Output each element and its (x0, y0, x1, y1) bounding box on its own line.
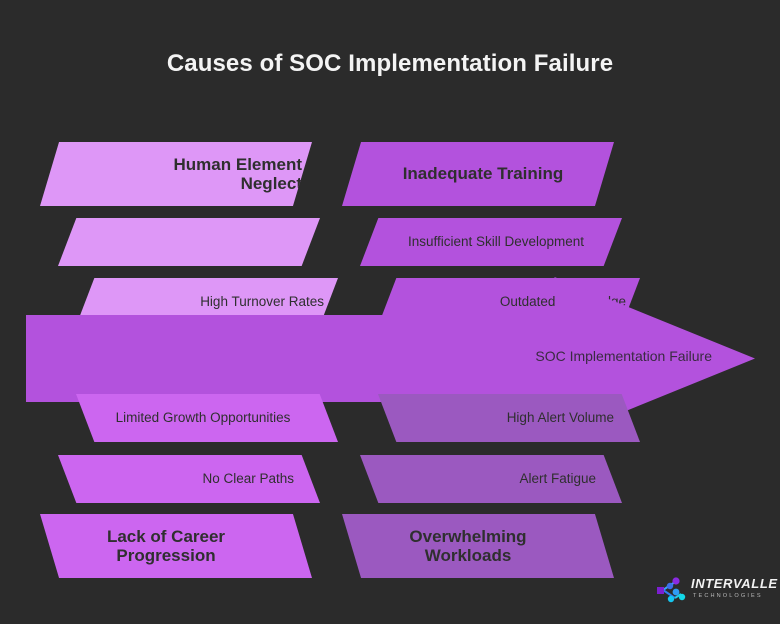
diagram-canvas: Causes of SOC Implementation Failure Hum… (0, 0, 780, 624)
logo: INTERVALLE TECHNOLOGIES (655, 572, 773, 612)
logo-tagline: TECHNOLOGIES (693, 593, 763, 599)
logo-wordmark: INTERVALLE (691, 576, 778, 591)
branch-heading-human-element-neglect: Human Element Neglect (40, 142, 312, 206)
branch-heading-label: Inadequate Training (368, 164, 598, 183)
cause-label: High Turnover Rates (102, 294, 324, 309)
cause-inadequate-training-1: Insufficient Skill Development (360, 218, 622, 266)
intervalle-network-icon (655, 574, 687, 606)
cause-human-element-neglect-1 (58, 218, 320, 266)
cause-label: Limited Growth Opportunities (90, 410, 316, 425)
cause-overwhelming-workloads-1: High Alert Volume (378, 394, 640, 442)
cause-label: Alert Fatigue (372, 471, 596, 486)
cause-lack-of-career-progression-2: No Clear Paths (58, 455, 320, 503)
branch-heading-overwhelming-workloads: Overwhelming Workloads (342, 514, 614, 578)
branch-heading-lack-of-career-progression: Lack of Career Progression (40, 514, 312, 578)
page-title: Causes of SOC Implementation Failure (0, 50, 780, 78)
branch-heading-label: Human Element Neglect (66, 155, 302, 193)
branch-heading-label: Lack of Career Progression (50, 527, 282, 565)
cause-label: No Clear Paths (70, 471, 294, 486)
cause-label: High Alert Volume (392, 410, 614, 425)
branch-heading-inadequate-training: Inadequate Training (342, 142, 614, 206)
spine-label: SOC Implementation Failure (0, 348, 712, 364)
cause-overwhelming-workloads-2: Alert Fatigue (360, 455, 622, 503)
cause-lack-of-career-progression-1: Limited Growth Opportunities (76, 394, 338, 442)
cause-label: Insufficient Skill Development (382, 234, 610, 249)
branch-heading-label: Overwhelming Workloads (352, 527, 584, 565)
